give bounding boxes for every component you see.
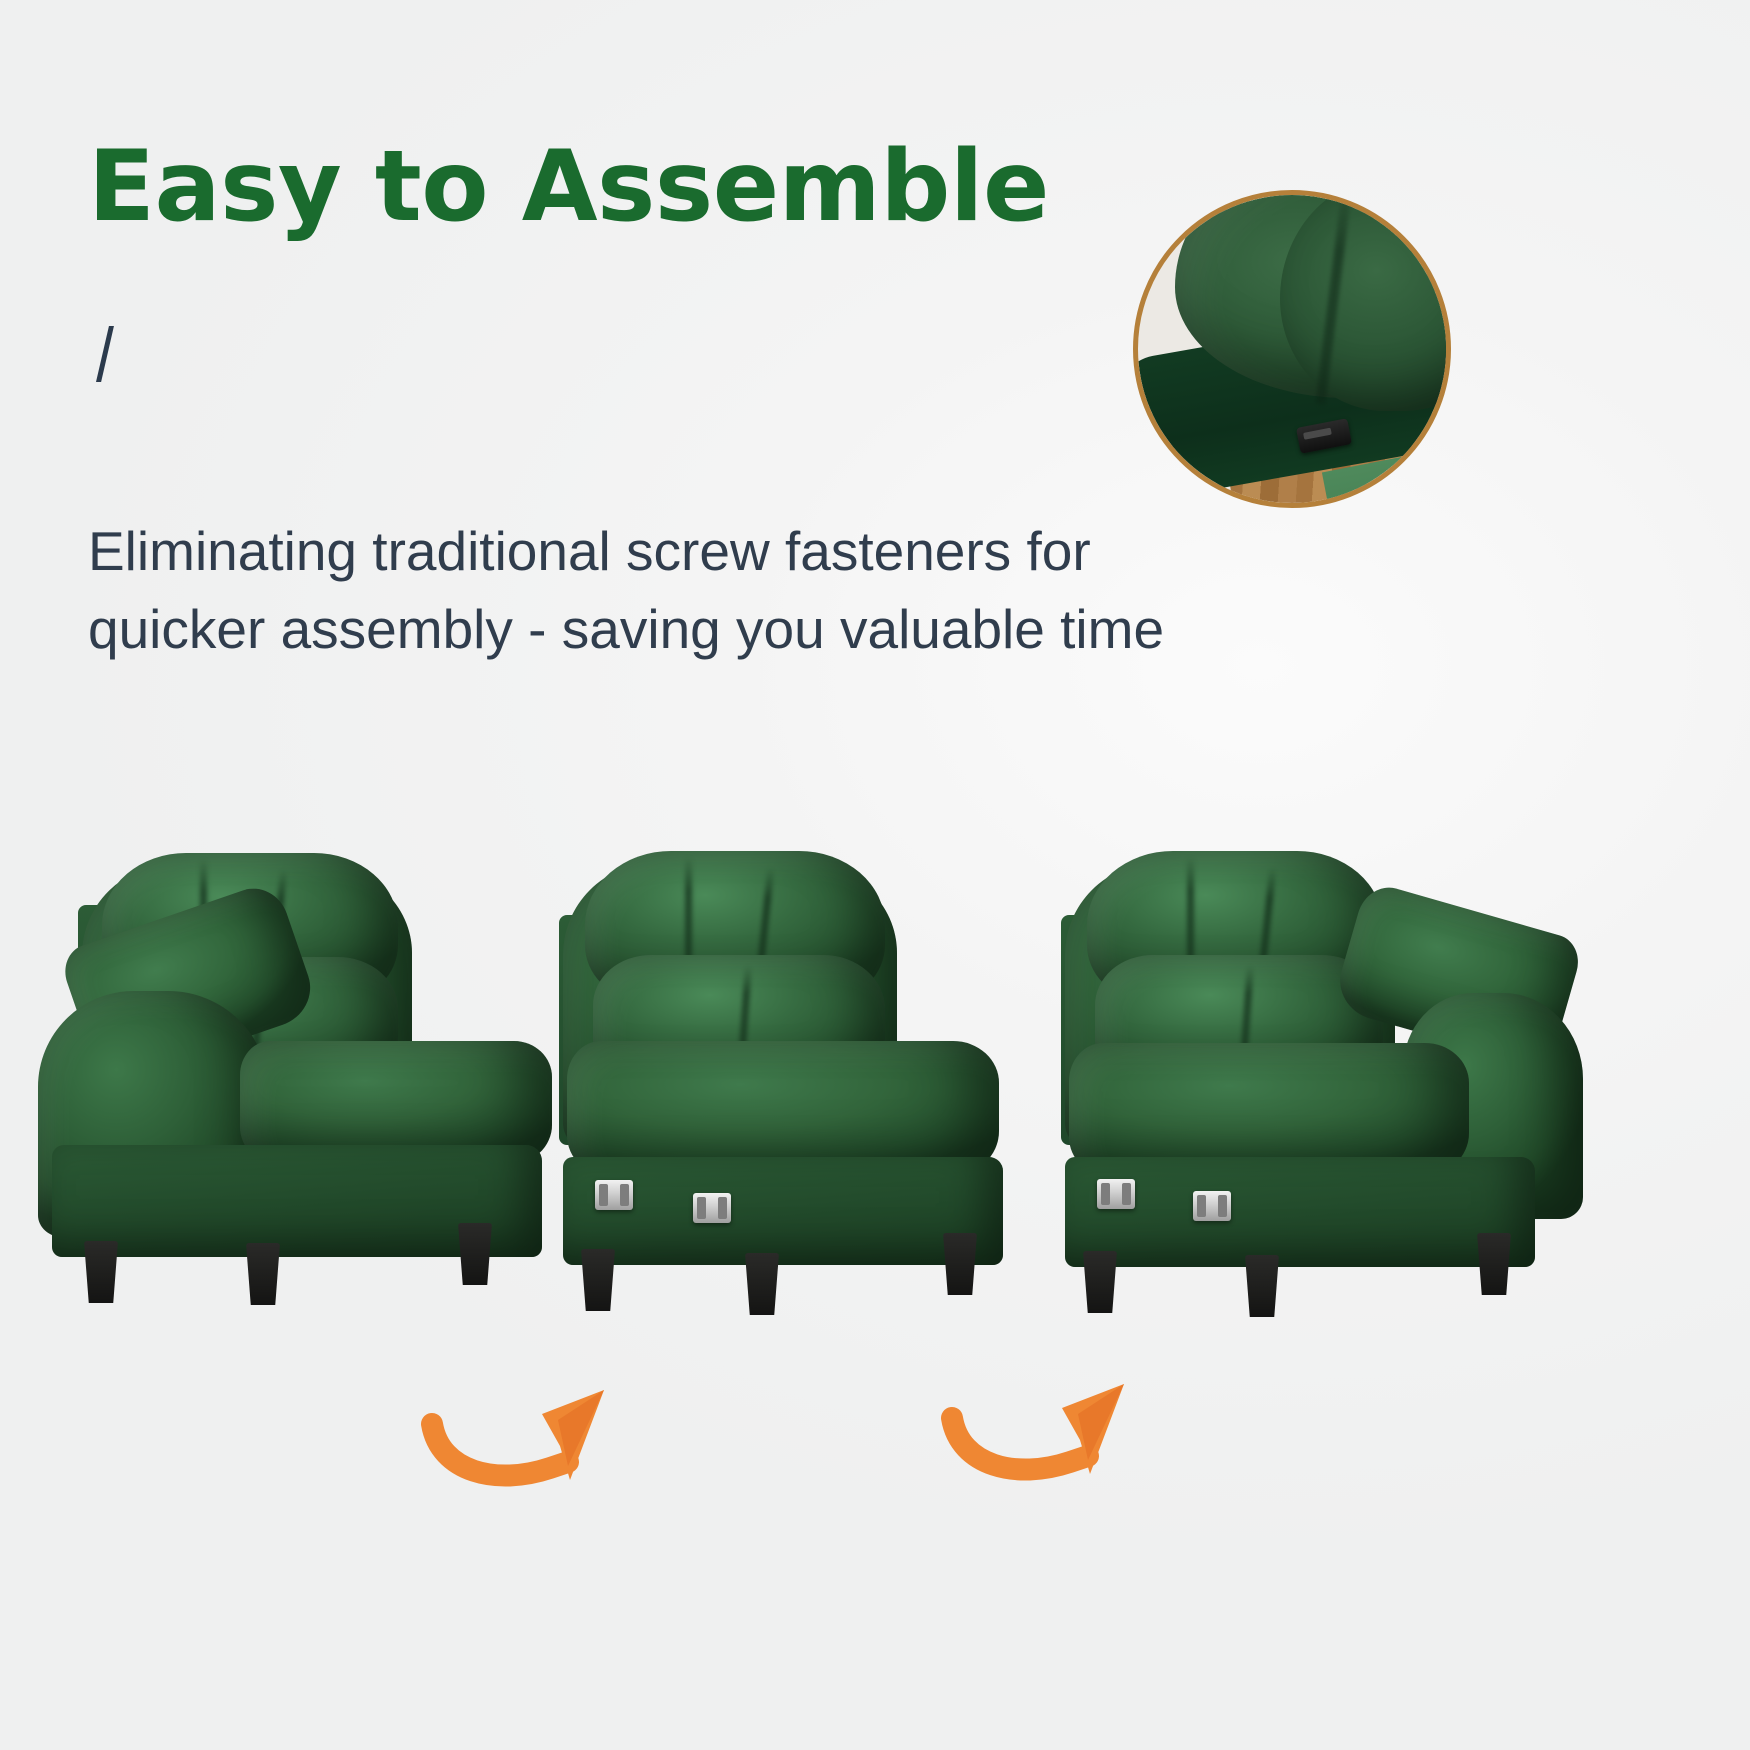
connector-clip-right xyxy=(693,1193,731,1223)
body-copy-line-2: quicker assembly - saving you valuable t… xyxy=(88,590,1268,668)
body-copy: Eliminating traditional screw fasteners … xyxy=(88,512,1268,668)
leg-back-right xyxy=(943,1233,977,1295)
connector-clip-left xyxy=(595,1180,633,1210)
leg-front-right xyxy=(246,1243,280,1305)
connector-clip-right xyxy=(1193,1191,1231,1221)
base-plinth xyxy=(563,1157,1003,1265)
page-title: Easy to Assemble xyxy=(88,136,1049,239)
detail-closeup-image xyxy=(1138,195,1446,503)
leg-front-left xyxy=(84,1241,118,1303)
detail-closeup-circle xyxy=(1133,190,1451,508)
connector-clip-left xyxy=(1097,1179,1135,1209)
leg-front-right xyxy=(745,1253,779,1315)
slash-divider-glyph: / xyxy=(96,312,114,399)
product-module-armless xyxy=(545,845,1035,1315)
leg-front-left xyxy=(1083,1251,1117,1313)
promo-banner: Easy to Assemble / Eliminating tradition… xyxy=(0,0,1750,1750)
leg-front-right xyxy=(1245,1255,1279,1317)
leg-front-left xyxy=(581,1249,615,1311)
body-copy-line-1: Eliminating traditional screw fasteners … xyxy=(88,512,1268,590)
assembly-arrow-2 xyxy=(938,1362,1168,1482)
base-plinth xyxy=(1065,1157,1535,1267)
product-module-right-arm xyxy=(1045,845,1585,1315)
leg-back-right xyxy=(458,1223,492,1285)
leg-back-right xyxy=(1477,1233,1511,1295)
assembly-arrow-1 xyxy=(418,1368,648,1488)
product-module-left-arm xyxy=(40,845,560,1305)
